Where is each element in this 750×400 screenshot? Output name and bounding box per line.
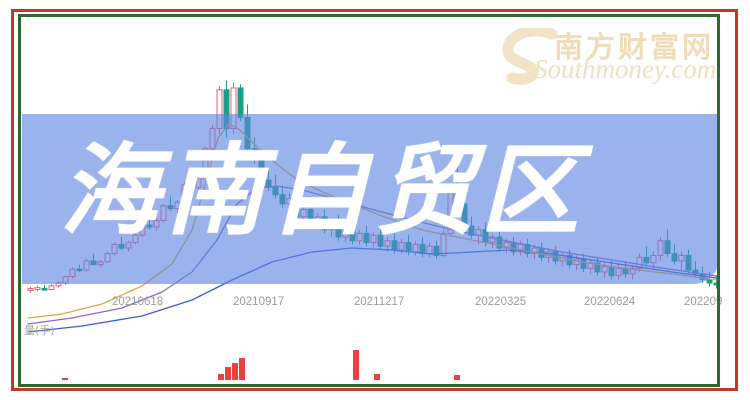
volume-bar [239,358,245,380]
candle-body [245,117,250,148]
volume-bar [353,350,359,380]
candle-body [308,209,313,222]
candle-body [91,261,96,265]
candle-body [280,195,285,204]
candle-body [420,244,425,253]
candle-body [154,220,159,226]
volume-bar [218,374,224,380]
candle-body [462,204,467,226]
candle-body [98,262,103,265]
candle-body [119,244,124,248]
volume-pane: 量(手) [22,322,720,382]
candle-body [140,225,145,235]
candle-body [28,289,33,291]
candle-body [224,90,229,129]
candle-body [35,288,40,290]
candle-body [196,178,201,187]
chart-x-axis: 2021061820210917202112172022032520220624… [22,296,722,314]
candle-body [112,244,117,253]
candle-body [294,198,299,216]
candle-body [441,233,446,255]
ma-short-line [28,124,717,318]
candle-body [343,230,348,237]
candle-body [686,255,691,270]
candle-body [707,279,712,283]
candle-body [581,259,586,268]
candle-body [427,246,432,253]
candle-body [448,193,453,233]
candle-body [350,230,355,241]
candle-body [322,217,327,230]
candle-body [378,235,383,246]
candle-body [651,255,656,262]
x-axis-tick-label: 20211217 [354,296,404,308]
volume-bar [232,363,238,380]
candle-body [105,254,110,262]
candle-body [77,269,82,271]
candle-body [238,88,243,117]
candle-body [364,233,369,242]
candle-body [56,283,61,286]
candle-body [336,224,341,237]
candle-body [70,269,75,276]
candle-body [665,241,670,254]
screenshot-stage: 海南自贸区 2021061820210917202112172022032520… [0,0,750,400]
candle-body [455,193,460,204]
candle-body [644,257,649,263]
candle-body [210,128,215,148]
candle-body [231,88,236,128]
candle-body [385,241,390,247]
volume-bar [374,374,380,380]
candle-body [273,187,278,194]
candle-body [217,90,222,129]
candle-body [714,283,718,285]
candle-body [315,217,320,223]
candle-body [63,277,68,283]
candle-body [252,149,257,160]
x-axis-tick-label: 20210618 [112,296,163,308]
candle-body [161,206,166,221]
x-axis-tick-label: 202209 [684,296,722,308]
volume-bar [62,378,68,380]
x-axis-tick-label: 20220325 [475,296,526,308]
candle-body [329,224,334,230]
candle-body [259,160,264,180]
candle-body [42,289,47,291]
candle-body [168,206,173,209]
candle-body [406,243,411,252]
candle-body [679,255,684,261]
volume-bar [454,375,460,380]
candle-body [413,244,418,251]
candle-body [609,266,614,275]
candle-body [602,266,607,272]
volume-bar-series [22,330,720,380]
candle-body [133,235,138,242]
candle-body [287,198,292,204]
candle-body [357,233,362,240]
candle-body [672,254,677,261]
candle-body [301,209,306,216]
candle-body [658,241,663,256]
candle-body [616,268,621,275]
candle-body [203,149,208,178]
candle-body [175,202,180,208]
volume-bar [225,367,231,380]
candle-body [182,185,187,202]
candle-body [147,225,152,227]
candle-body [49,286,54,290]
candle-body [126,243,131,249]
candle-body [392,241,397,250]
x-axis-tick-label: 20210917 [233,296,284,308]
x-axis-tick-label: 20220624 [584,296,635,308]
candle-body [371,235,376,242]
candle-body [84,261,89,270]
candle-body [399,243,404,250]
candle-body [189,185,194,188]
